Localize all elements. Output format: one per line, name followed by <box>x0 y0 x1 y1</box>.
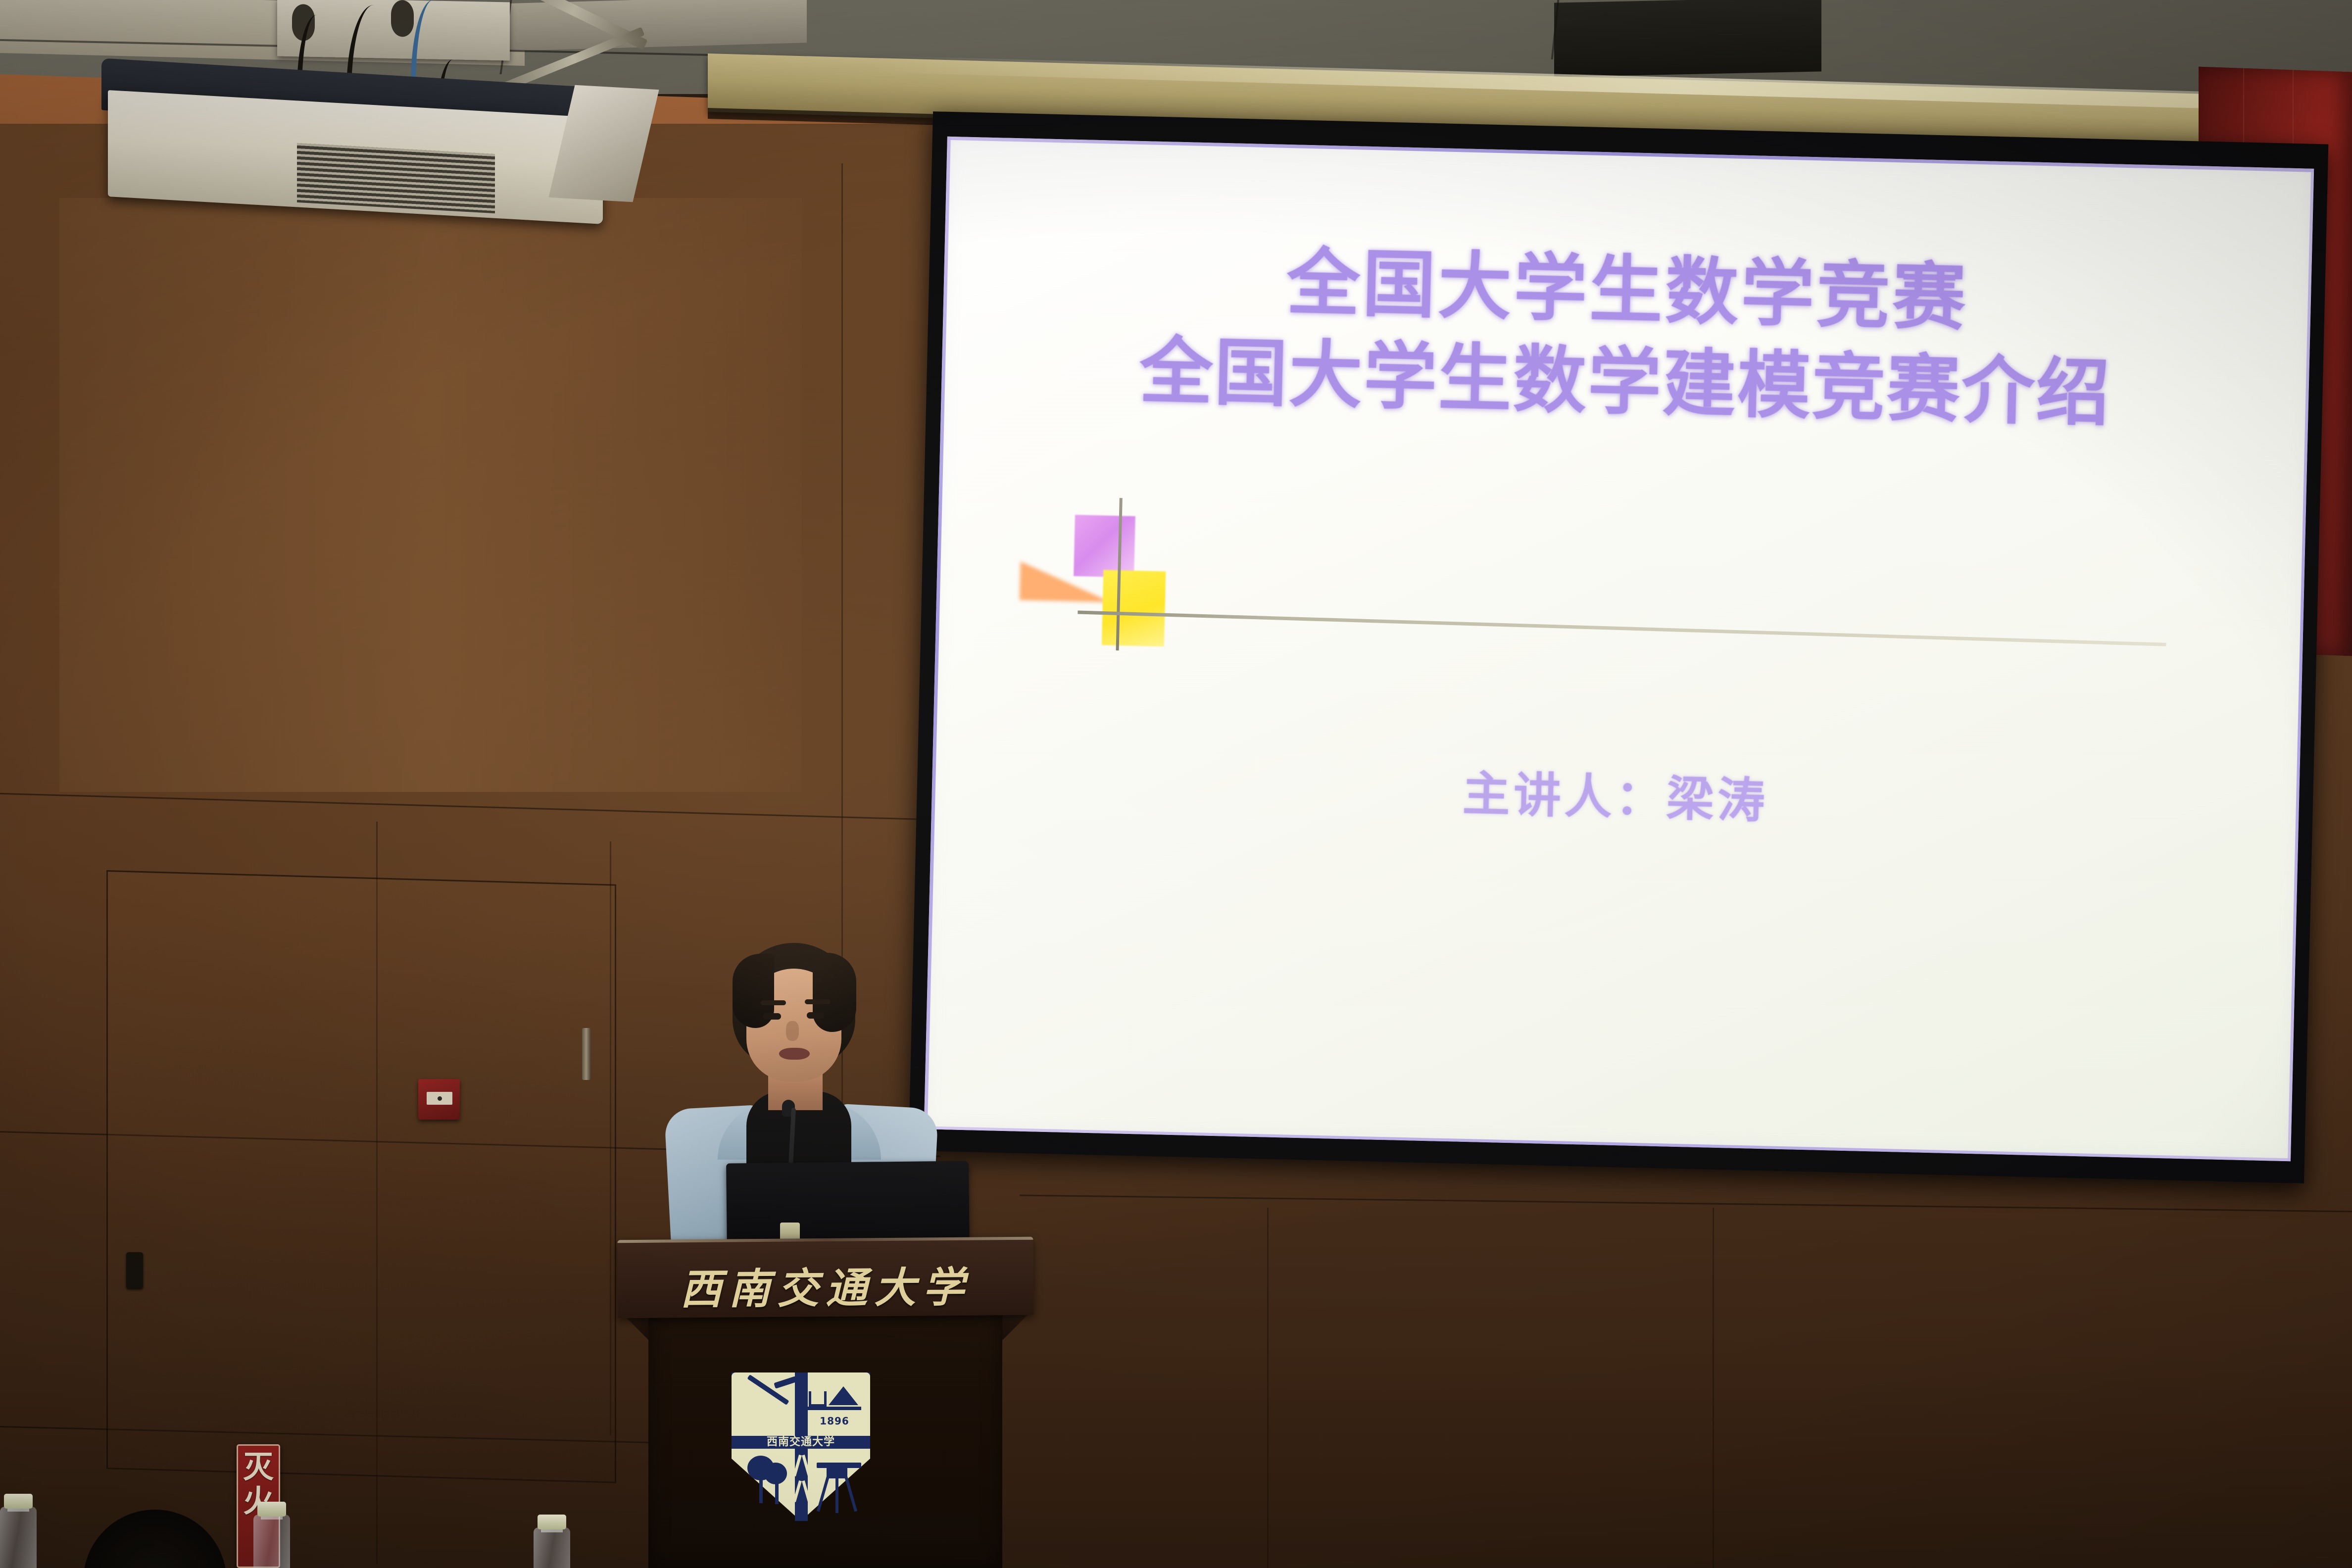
projection-screen-frame: 全国大学生数学竞赛 全国大学生数学建模竞赛介绍 主讲人：梁涛 <box>909 111 2329 1183</box>
podium-name-plate: 西南交通大学 <box>617 1237 1033 1319</box>
door-hinge <box>582 1028 590 1080</box>
nose <box>786 1021 799 1041</box>
ceiling-vent <box>1554 0 1821 77</box>
lecture-hall-photo: 灭 火 全国大学生数学竞赛 全国大学生数学建模竞赛介绍 <box>0 0 2352 1568</box>
mountain-arch-icon <box>807 1384 861 1410</box>
screen-edge-glow-top <box>947 137 2314 172</box>
wall-seam-vertical <box>1267 1208 1269 1568</box>
fire-alarm-pull-station[interactable] <box>418 1079 460 1120</box>
bottle-cap <box>4 1494 33 1509</box>
slide-presenter-line: 主讲人：梁涛 <box>931 742 2300 843</box>
wall-seam-vertical <box>1713 1208 1714 1568</box>
yellow-square-shape <box>1102 570 1166 646</box>
projector-vent-grille <box>297 143 495 213</box>
wall-door[interactable] <box>106 870 616 1483</box>
eyebrow-right <box>805 999 831 1004</box>
slide-title-line-2: 全国大学生数学建模竞赛介绍 <box>941 320 2310 444</box>
hair-front-right <box>813 953 856 1032</box>
tree-trunk <box>775 1482 779 1504</box>
university-emblem: 1896 西南交通大学 <box>732 1372 870 1521</box>
slide-title-line-1: 全国大学生数学竞赛 <box>1286 240 1969 341</box>
podium-name-text: 西南交通大学 <box>618 1254 1034 1317</box>
water-bottle <box>0 1507 37 1568</box>
water-bottle <box>253 1515 290 1568</box>
slide-title: 全国大学生数学竞赛 全国大学生数学建模竞赛介绍 <box>941 228 2312 445</box>
water-bottle <box>534 1527 570 1568</box>
people-icon <box>792 1480 812 1503</box>
mount-hole <box>391 0 414 37</box>
fire-sign-char-1: 灭 <box>243 1453 274 1482</box>
door-handle[interactable] <box>126 1252 143 1289</box>
tripod-leg <box>844 1476 857 1512</box>
tree-trunk <box>759 1477 763 1503</box>
emblem-founding-year: 1896 <box>807 1415 862 1427</box>
eye-right <box>807 1012 825 1019</box>
tree-icon <box>764 1463 787 1484</box>
bottle-cap <box>538 1515 566 1529</box>
fire-alarm-button-icon <box>438 1096 442 1101</box>
eyebrow-left <box>760 1000 786 1005</box>
people-icon <box>792 1455 812 1477</box>
slide-decoration <box>1047 486 1646 687</box>
eye-left <box>763 1013 781 1020</box>
projection-screen-surface: 全国大学生数学竞赛 全国大学生数学建模竞赛介绍 主讲人：梁涛 <box>924 137 2314 1162</box>
horizontal-rule <box>1078 611 2166 646</box>
emblem-institution-text: 西南交通大学 <box>732 1435 870 1450</box>
mouth <box>779 1048 810 1060</box>
bottle-cap <box>257 1502 286 1517</box>
violet-square-shape <box>1074 515 1135 578</box>
tripod-leg <box>835 1476 838 1513</box>
